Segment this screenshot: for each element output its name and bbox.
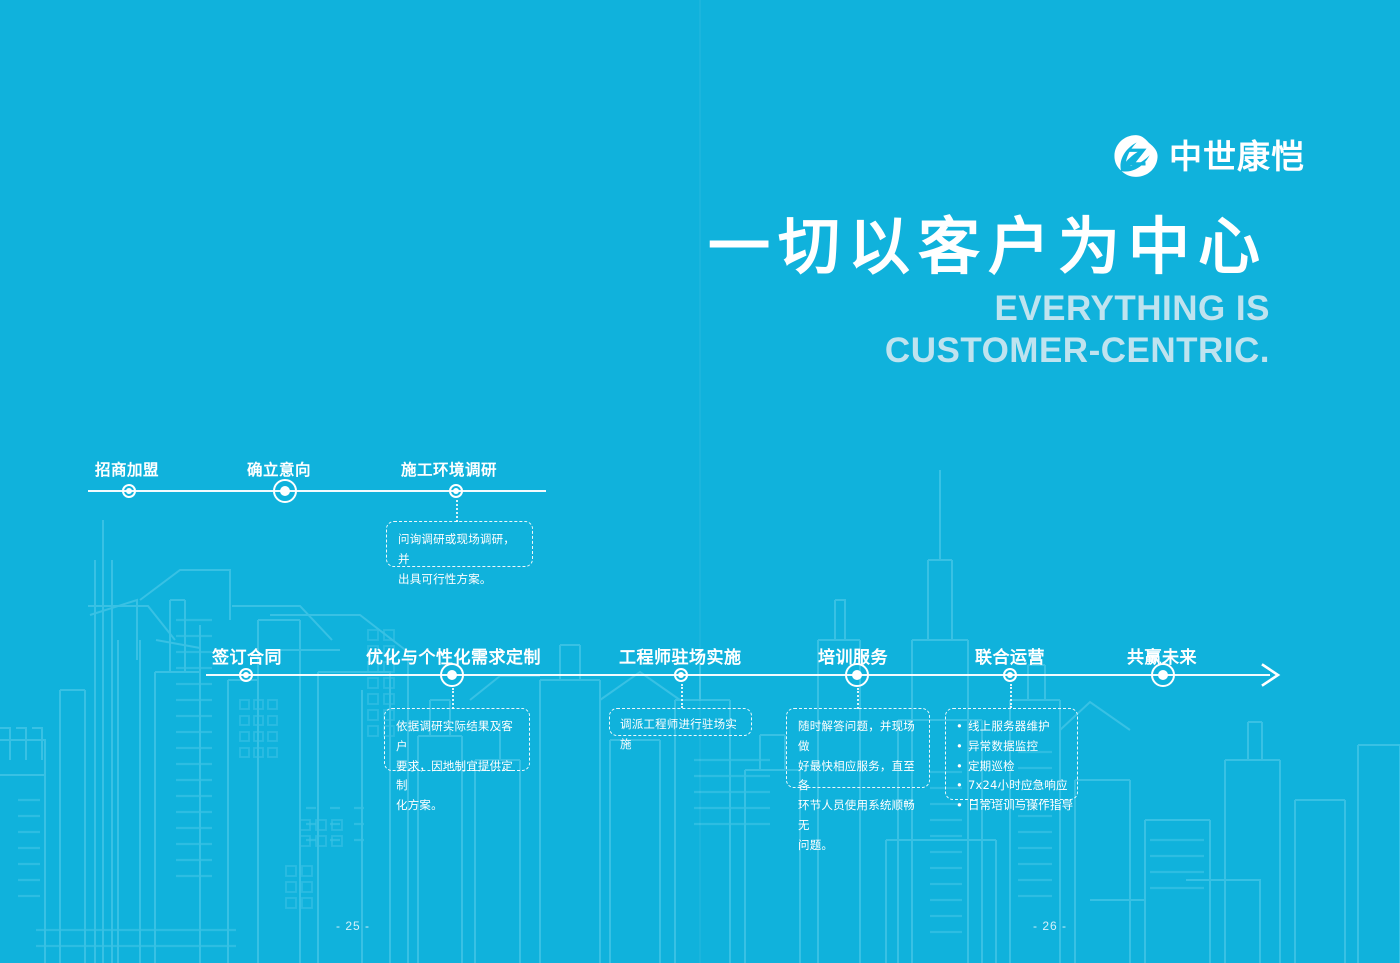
timeline-bottom-infobox-0: 依据调研实际结果及客户 要求，因地制宜提供定制 化方案。 [384,708,530,771]
timeline-bottom-infobox-1: 调派工程师进行驻场实施 [609,708,752,736]
timeline-bottom-label-2: 工程师驻场实施 [619,643,742,668]
infobox-line: 调派工程师进行驻场实施 [620,715,741,755]
infobox-line: 环节人员使用系统顺畅无 [798,796,918,836]
timeline-bottom-connector-3 [857,688,859,709]
headline-english-line-2: CUSTOMER-CENTRIC. [708,330,1270,371]
timeline-bottom-node-5[interactable] [1151,663,1175,687]
headline-chinese: 一切以客户为中心 [708,215,1270,278]
node-dot [678,672,684,678]
timeline-bottom-node-4[interactable] [1003,668,1017,682]
slide-canvas: 中世康恺 一切以客户为中心 EVERYTHING IS CUSTOMER-CEN… [0,0,1400,963]
infobox-line: 好最快相应服务，直至各 [798,757,918,797]
page-number-left: - 25 - [336,919,370,933]
timeline-bottom-label-0: 签订合同 [212,643,282,668]
infobox-bullet: 异常数据监控 [956,737,1067,757]
infobox-bullet-list: 线上服务器维护 异常数据监控 定期巡检 7x24小时应急响应 日常培训与操作指导 [956,717,1067,816]
node-dot [852,670,862,680]
timeline-bottom-infobox-2: 随时解答问题，并现场做 好最快相应服务，直至各 环节人员使用系统顺畅无 问题。 [786,708,930,788]
arrow-right-icon [1258,661,1286,689]
node-dot [1007,672,1013,678]
infobox-bullet: 7x24小时应急响应 [956,776,1067,796]
timeline-bottom-connector-1 [452,688,454,709]
timeline-bottom-node-2[interactable] [674,668,688,682]
leaf-swoosh-logo-icon [1113,133,1159,179]
headline-block: 一切以客户为中心 EVERYTHING IS CUSTOMER-CENTRIC. [708,215,1270,371]
timeline-bottom-track [206,674,1270,676]
node-dot [1158,670,1168,680]
node-dot [243,672,249,678]
infobox-line: 随时解答问题，并现场做 [798,717,918,757]
timeline-bottom-node-1[interactable] [440,663,464,687]
headline-english-line-1: EVERYTHING IS [708,288,1270,329]
timeline-bottom-label-4: 联合运营 [975,643,1045,668]
page-number-right: - 26 - [1033,919,1067,933]
node-dot [447,670,457,680]
infobox-line: 问题。 [798,836,918,856]
infobox-line: 依据调研实际结果及客户 [396,717,518,757]
infobox-line: 化方案。 [396,796,518,816]
timeline-bottom-node-0[interactable] [239,668,253,682]
timeline-bottom-connector-4 [1010,684,1012,708]
infobox-line: 要求，因地制宜提供定制 [396,757,518,797]
timeline-bottom-connector-2 [681,684,683,708]
timeline-bottom-infobox-3: 线上服务器维护 异常数据监控 定期巡检 7x24小时应急响应 日常培训与操作指导 [945,708,1078,800]
infobox-bullet: 定期巡检 [956,757,1067,777]
infobox-bullet: 线上服务器维护 [956,717,1067,737]
brand-logo: 中世康恺 [1113,133,1305,179]
timeline-bottom-node-3[interactable] [845,663,869,687]
infobox-bullet: 日常培训与操作指导 [956,796,1067,816]
brand-name: 中世康恺 [1169,140,1305,173]
